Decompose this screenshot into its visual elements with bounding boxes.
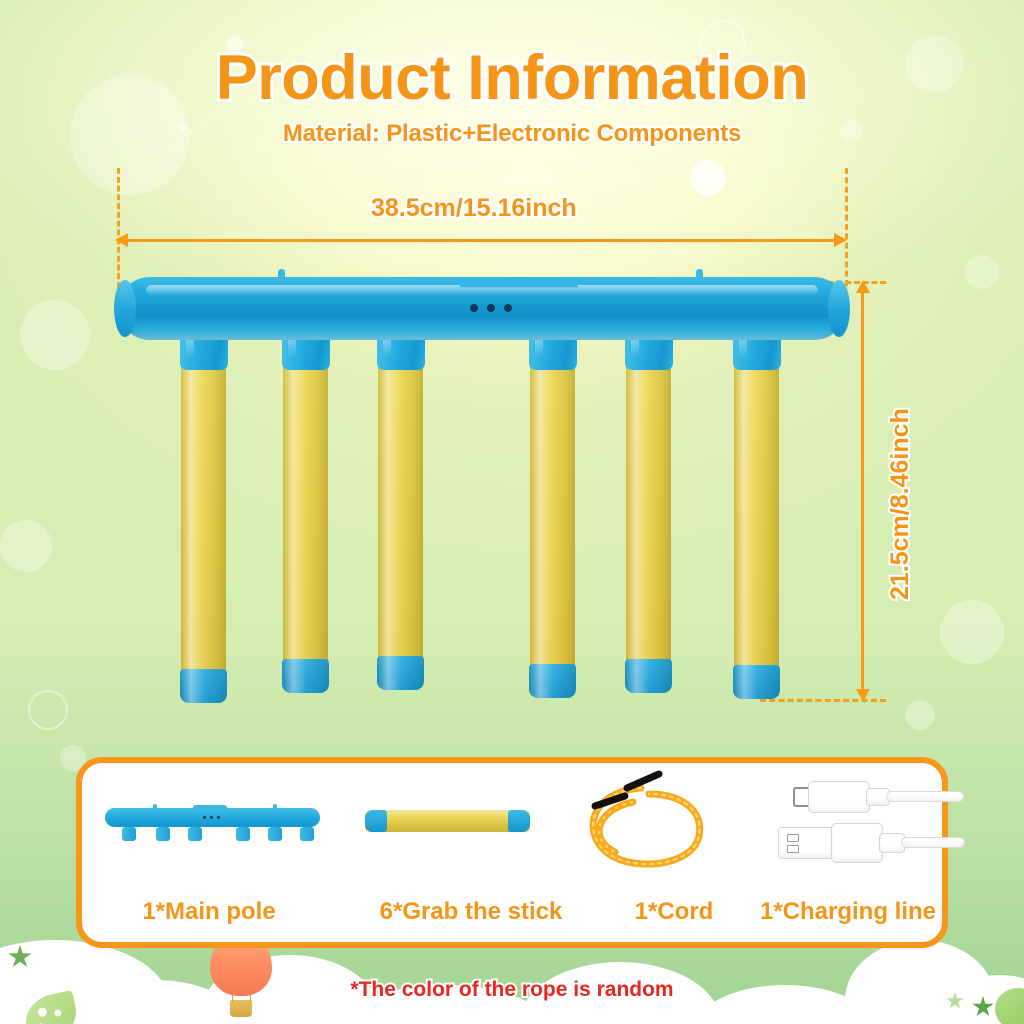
height-dimension-line — [861, 290, 864, 690]
cable-body — [901, 837, 965, 848]
width-dimension-line — [126, 239, 838, 242]
height-dimension-label: 21.5cm/8.46inch — [886, 408, 915, 600]
bokeh-circle — [20, 300, 90, 370]
usb-a-housing — [831, 823, 883, 863]
stick-socket — [268, 827, 282, 841]
width-arrow-left — [115, 233, 128, 247]
part-label-charging-line: 1*Charging line — [748, 898, 948, 926]
usb-c-plug — [808, 781, 870, 813]
stick-socket — [300, 827, 314, 841]
part-label-main-pole: 1*Main pole — [76, 898, 342, 926]
width-dimension-label: 38.5cm/15.16inch — [371, 194, 577, 223]
usb-a-contact — [787, 845, 799, 853]
extension-line-left — [117, 168, 120, 288]
height-arrow-bottom — [856, 689, 870, 702]
footnote-text: *The color of the rope is random — [0, 978, 1024, 1002]
stick-socket — [122, 827, 136, 841]
main-pole-icon — [105, 808, 320, 827]
part-label-cord: 1*Cord — [600, 898, 748, 926]
usb-a-plug — [778, 827, 834, 859]
bokeh-circle — [690, 160, 726, 196]
page-title: Product Information — [0, 42, 1024, 114]
bokeh-ring — [28, 690, 68, 730]
extension-line-right — [845, 168, 848, 286]
height-arrow-top — [856, 280, 870, 293]
stick-socket — [188, 827, 202, 841]
cable-body — [886, 791, 964, 802]
usb-a-contact — [787, 834, 799, 842]
stick-socket — [236, 827, 250, 841]
part-label-grab-stick: 6*Grab the stick — [342, 898, 600, 926]
grab-stick-icon — [365, 810, 530, 832]
bokeh-circle — [0, 520, 52, 572]
width-arrow-right — [834, 233, 847, 247]
parts-label-row: 1*Main pole 6*Grab the stick 1*Cord 1*Ch… — [76, 898, 948, 926]
stick-socket — [156, 827, 170, 841]
bokeh-circle — [965, 255, 999, 289]
bokeh-circle — [940, 600, 1004, 664]
bokeh-circle — [905, 700, 935, 730]
material-subtitle: Material: Plastic+Electronic Components — [0, 120, 1024, 148]
